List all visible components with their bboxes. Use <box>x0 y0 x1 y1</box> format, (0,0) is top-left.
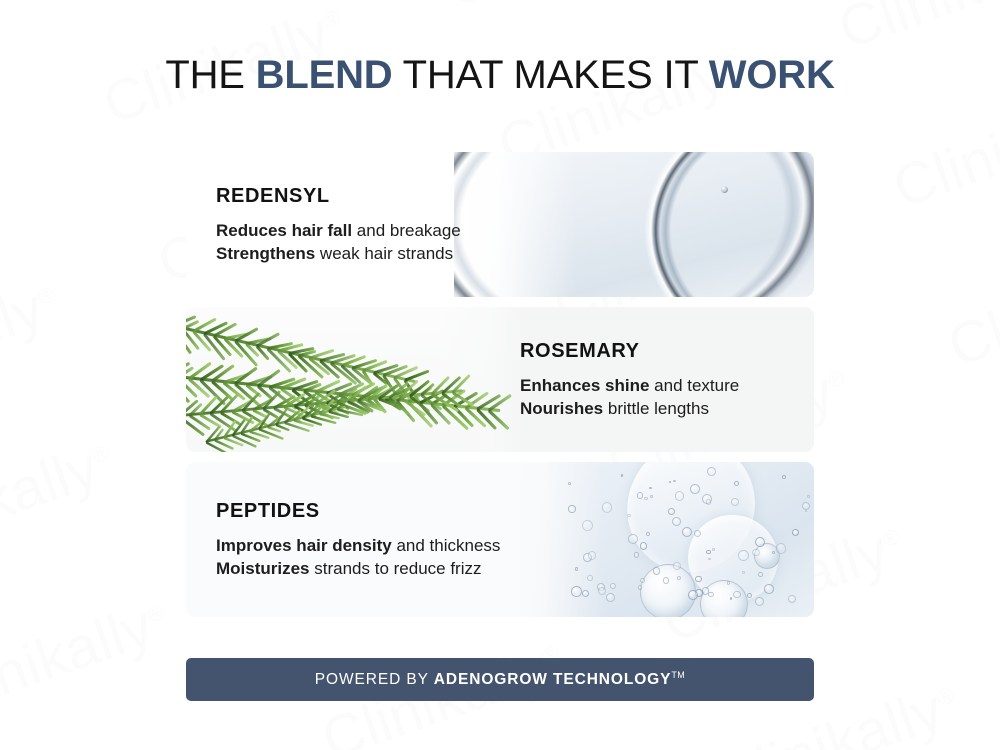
benefit-line: Improves hair density and thickness <box>216 534 586 557</box>
benefit-rest: and thickness <box>392 536 501 555</box>
rosemary-needle <box>487 409 509 430</box>
ingredient-name: PEPTIDES <box>216 500 586 523</box>
serum-bubble <box>663 577 669 583</box>
serum-bubble <box>653 567 660 574</box>
benefit-rest: weak hair strands <box>315 244 453 263</box>
card-art-rosemary <box>186 307 526 452</box>
serum-bubble <box>669 481 671 483</box>
watermark-text: Clinikally® <box>0 269 68 414</box>
title-part-1: THE <box>165 53 255 97</box>
serum-bubble <box>588 551 596 559</box>
benefit-bold: Nourishes <box>520 399 603 418</box>
serum-bubble <box>650 495 652 497</box>
card-copy-rosemary: ROSEMARY Enhances shine and texture Nour… <box>520 307 784 452</box>
serum-bubble <box>782 475 786 479</box>
ingredient-card-redensyl: REDENSYL Reduces hair fall and breakage … <box>186 152 814 297</box>
footer-prefix: POWERED BY <box>315 671 434 688</box>
ingredient-name: ROSEMARY <box>520 340 784 363</box>
serum-bubble <box>621 474 624 477</box>
watermark-text: Clinikally® <box>940 235 1000 380</box>
serum-bubble <box>640 542 647 549</box>
ingredient-card-peptides: PEPTIDES Improves hair density and thick… <box>186 462 814 617</box>
benefit-line: Enhances shine and texture <box>520 374 784 397</box>
benefit-line: Strengthens weak hair strands <box>216 242 546 265</box>
serum-bubble <box>752 549 759 556</box>
serum-bubble <box>764 584 774 594</box>
serum-bubble <box>733 591 741 599</box>
watermark-text: Clinikally® <box>435 0 694 20</box>
serum-bubble <box>602 502 613 513</box>
powered-by-text: POWERED BY ADENOGROW TECHNOLOGYTM <box>315 670 685 689</box>
serum-bubble <box>675 491 684 500</box>
serum-bubble <box>788 595 796 603</box>
serum-bubble <box>668 508 675 515</box>
serum-bubble <box>690 484 700 494</box>
serum-bubble <box>637 492 644 499</box>
watermark-text: Clinikally® <box>994 393 1000 538</box>
serum-bubble <box>644 497 647 500</box>
serum-bubble <box>706 499 712 505</box>
serum-bubble <box>776 543 786 553</box>
serum-bubble <box>727 581 730 584</box>
serum-bubble <box>702 587 710 595</box>
serum-bubble <box>807 495 810 498</box>
benefit-rest: strands to reduce frizz <box>310 559 482 578</box>
serum-bubble <box>747 593 752 598</box>
serum-bubble <box>688 590 698 600</box>
benefit-line: Reduces hair fall and breakage <box>216 219 546 242</box>
serum-bubble <box>640 564 696 617</box>
serum-bubble <box>802 502 810 510</box>
card-copy-redensyl: REDENSYL Reduces hair fall and breakage … <box>216 152 546 297</box>
title-accent-blend: BLEND <box>256 53 393 97</box>
benefit-bold: Strengthens <box>216 244 315 263</box>
serum-bubble <box>628 534 638 544</box>
serum-bubble <box>730 597 733 600</box>
water-droplet-icon <box>721 186 728 193</box>
serum-bubble <box>677 576 681 580</box>
ingredient-name: REDENSYL <box>216 185 546 208</box>
serum-bubble <box>755 597 764 606</box>
benefit-rest: and breakage <box>352 221 461 240</box>
serum-bubble <box>606 593 615 602</box>
trademark-symbol: TM <box>671 670 685 680</box>
serum-bubble <box>706 550 710 554</box>
watermark-text: Clinikally® <box>0 110 13 255</box>
rosemary-sprig-photo <box>186 307 526 452</box>
serum-bubble <box>672 517 681 526</box>
title-part-2: THAT MAKES IT <box>392 53 708 97</box>
page-title: THE BLEND THAT MAKES IT WORK <box>0 52 1000 98</box>
powered-by-banner: POWERED BY ADENOGROW TECHNOLOGYTM <box>186 658 814 701</box>
serum-bubble <box>587 575 593 581</box>
watermark-text: Clinikally® <box>0 586 177 731</box>
benefit-bold: Reduces hair fall <box>216 221 352 240</box>
serum-bubble <box>610 583 616 589</box>
benefit-bold: Improves hair density <box>216 536 392 555</box>
serum-bubble <box>634 552 639 557</box>
footer-brand: ADENOGROW TECHNOLOGY <box>434 671 672 688</box>
title-accent-work: WORK <box>709 53 835 97</box>
benefit-rest: brittle lengths <box>603 399 709 418</box>
serum-bubble <box>707 467 716 476</box>
benefit-line: Nourishes brittle lengths <box>520 397 784 420</box>
serum-bubble <box>598 587 606 595</box>
benefit-rest: and texture <box>649 376 739 395</box>
serum-bubble <box>649 487 651 489</box>
serum-bubble <box>708 592 714 598</box>
card-copy-peptides: PEPTIDES Improves hair density and thick… <box>216 462 586 617</box>
serum-bubble <box>734 481 739 486</box>
benefit-bold: Enhances shine <box>520 376 649 395</box>
benefit-line: Moisturizes strands to reduce frizz <box>216 557 586 580</box>
serum-bubble <box>792 529 799 536</box>
serum-bubble <box>805 510 808 513</box>
serum-bubble <box>627 514 631 518</box>
serum-bubble <box>758 572 763 577</box>
infographic-page: Clinikally®Clinikally®Clinikally®Clinika… <box>0 0 1000 750</box>
serum-bubble <box>742 571 745 574</box>
watermark-text: Clinikally® <box>0 745 232 750</box>
serum-bubble <box>695 576 702 583</box>
benefit-bold: Moisturizes <box>216 559 310 578</box>
ingredient-card-rosemary: ROSEMARY Enhances shine and texture Nour… <box>186 307 814 452</box>
watermark-text: Clinikally® <box>0 427 122 572</box>
serum-bubble <box>731 498 739 506</box>
serum-bubble <box>646 532 650 536</box>
